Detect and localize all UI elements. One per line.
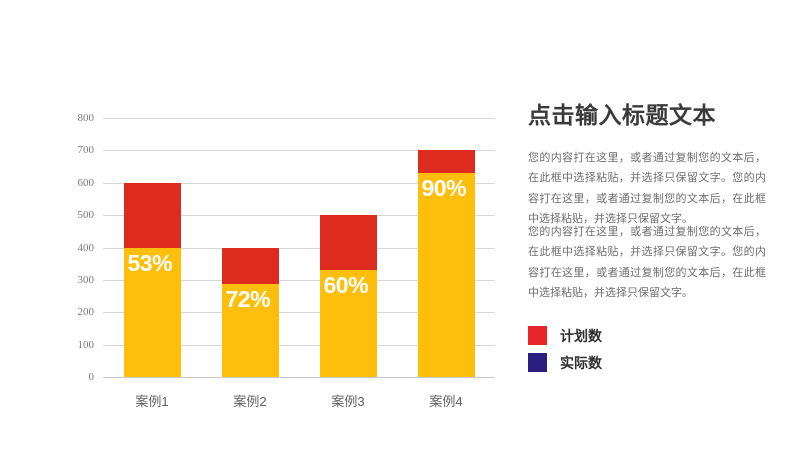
legend-swatch — [528, 353, 547, 372]
bar-percent-label: 53% — [128, 252, 173, 275]
bar-segment-actual[interactable]: 90% — [418, 173, 475, 377]
bar-segment-plan[interactable] — [222, 248, 279, 284]
bar-column[interactable]: 53%案例1 — [124, 118, 181, 377]
chart-legend: 计划数实际数 — [528, 322, 602, 376]
slide-canvas: 0100200300400500600700800 53%案例172%案例260… — [0, 0, 800, 450]
x-axis-tick-1: 案例1 — [135, 391, 168, 410]
panel-title: 点击输入标题文本 — [528, 103, 716, 128]
legend-item[interactable]: 计划数 — [528, 322, 602, 349]
x-axis-tick-2: 案例2 — [233, 391, 266, 410]
y-axis-tick-100: 100 — [78, 339, 95, 351]
bar-segment-plan[interactable] — [320, 215, 377, 270]
legend-label: 计划数 — [560, 326, 602, 346]
y-axis-tick-0: 0 — [89, 371, 95, 383]
bar-segment-plan[interactable] — [418, 150, 475, 173]
text-panel: 点击输入标题文本 您的内容打在这里，或者通过复制您的文本后，在此框中选择粘贴，并… — [528, 0, 788, 450]
bar-percent-label: 60% — [324, 274, 369, 297]
bar-column[interactable]: 90%案例4 — [418, 118, 475, 377]
bar-segment-actual[interactable]: 53% — [124, 248, 181, 378]
bar-column[interactable]: 60%案例3 — [320, 118, 377, 377]
y-axis-tick-300: 300 — [78, 274, 95, 286]
y-axis-tick-600: 600 — [78, 177, 95, 189]
legend-swatch — [528, 326, 547, 345]
legend-label: 实际数 — [560, 353, 602, 373]
y-axis-tick-400: 400 — [78, 242, 95, 254]
bar-percent-label: 72% — [226, 288, 271, 311]
bar-segment-plan[interactable] — [124, 183, 181, 248]
bars-group: 53%案例172%案例260%案例390%案例4 — [103, 118, 495, 377]
x-axis-tick-3: 案例3 — [331, 391, 364, 410]
legend-item[interactable]: 实际数 — [528, 349, 602, 376]
panel-paragraph-1: 您的内容打在这里，或者通过复制您的文本后，在此框中选择粘贴，并选择只保留文字。您… — [528, 148, 766, 229]
y-axis-tick-200: 200 — [78, 306, 95, 318]
bar-column[interactable]: 72%案例2 — [222, 118, 279, 377]
plot-area: 0100200300400500600700800 53%案例172%案例260… — [103, 118, 495, 377]
bar-segment-actual[interactable]: 60% — [320, 270, 377, 377]
panel-paragraph-2: 您的内容打在这里，或者通过复制您的文本后，在此框中选择粘贴，并选择只保留文字。您… — [528, 222, 766, 303]
y-axis-tick-500: 500 — [78, 209, 95, 221]
x-axis-tick-4: 案例4 — [429, 391, 462, 410]
gridline-0: 0 — [103, 377, 495, 378]
bar-segment-actual[interactable]: 72% — [222, 284, 279, 377]
y-axis-tick-700: 700 — [78, 144, 95, 156]
stacked-bar-chart: 0100200300400500600700800 53%案例172%案例260… — [0, 0, 510, 450]
y-axis-tick-800: 800 — [78, 112, 95, 124]
bar-percent-label: 90% — [422, 177, 467, 200]
